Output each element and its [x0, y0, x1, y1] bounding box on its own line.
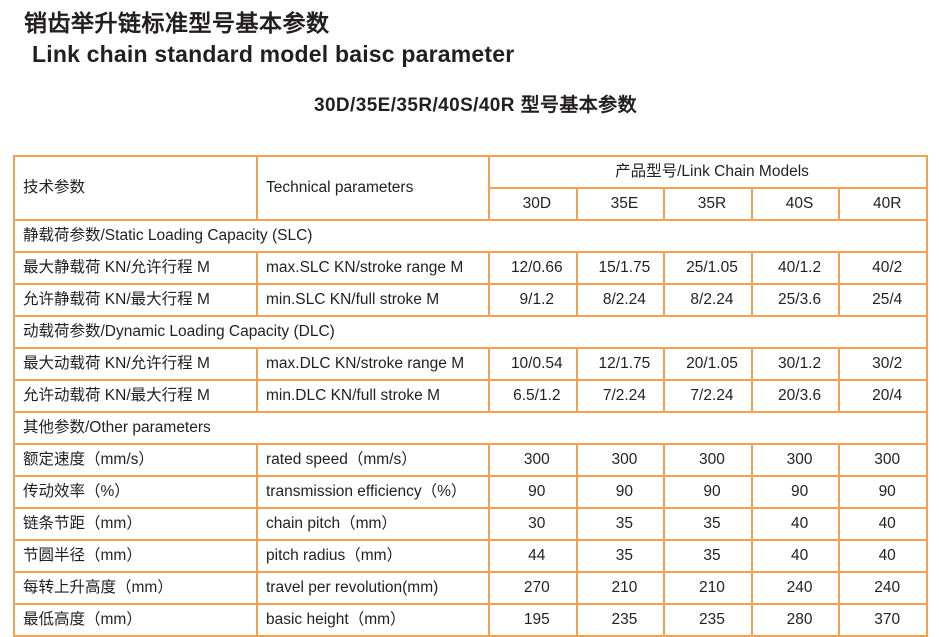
- column-header-model-40r: 40R: [840, 189, 926, 219]
- cell-value: 10/0.54: [490, 349, 576, 379]
- cell-value: 235: [665, 605, 751, 635]
- cell-value: 300: [490, 445, 576, 475]
- table-row: 每转上升高度（mm） travel per revolution(mm) 270…: [15, 573, 926, 603]
- cell-value: 30: [490, 509, 576, 539]
- cell-value: 210: [665, 573, 751, 603]
- section-row: 静载荷参数/Static Loading Capacity (SLC): [15, 221, 926, 251]
- row-label-en: min.SLC KN/full stroke M: [258, 285, 488, 315]
- row-label-cn: 允许静载荷 KN/最大行程 M: [15, 285, 256, 315]
- table-row: 传动效率（%） transmission efficiency（%） 90 90…: [15, 477, 926, 507]
- cell-value: 240: [753, 573, 839, 603]
- table-row: 最低高度（mm） basic height（mm） 195 235 235 28…: [15, 605, 926, 635]
- cell-value: 44: [490, 541, 576, 571]
- cell-value: 12/0.66: [490, 253, 576, 283]
- cell-value: 8/2.24: [665, 285, 751, 315]
- cell-value: 8/2.24: [578, 285, 664, 315]
- row-label-cn: 节圆半径（mm）: [15, 541, 256, 571]
- cell-value: 20/3.6: [753, 381, 839, 411]
- cell-value: 240: [840, 573, 926, 603]
- cell-value: 300: [840, 445, 926, 475]
- cell-value: 40: [840, 541, 926, 571]
- cell-value: 6.5/1.2: [490, 381, 576, 411]
- cell-value: 40: [753, 509, 839, 539]
- cell-value: 280: [753, 605, 839, 635]
- cell-value: 195: [490, 605, 576, 635]
- row-label-cn: 最大静载荷 KN/允许行程 M: [15, 253, 256, 283]
- cell-value: 20/4: [840, 381, 926, 411]
- page-title-en: Link chain standard model baisc paramete…: [24, 38, 939, 70]
- spec-table: 技术参数 Technical parameters 产品型号/Link Chai…: [13, 155, 928, 637]
- table-header-row-1: 技术参数 Technical parameters 产品型号/Link Chai…: [15, 157, 926, 187]
- cell-value: 300: [578, 445, 664, 475]
- cell-value: 35: [665, 541, 751, 571]
- cell-value: 35: [665, 509, 751, 539]
- section-label-slc: 静载荷参数/Static Loading Capacity (SLC): [15, 221, 926, 251]
- column-header-model-30d: 30D: [490, 189, 576, 219]
- column-header-models-group: 产品型号/Link Chain Models: [490, 157, 926, 187]
- cell-value: 300: [753, 445, 839, 475]
- cell-value: 30/1.2: [753, 349, 839, 379]
- cell-value: 15/1.75: [578, 253, 664, 283]
- column-header-model-40s: 40S: [753, 189, 839, 219]
- column-header-param-cn: 技术参数: [15, 157, 256, 219]
- cell-value: 40/2: [840, 253, 926, 283]
- cell-value: 9/1.2: [490, 285, 576, 315]
- cell-value: 235: [578, 605, 664, 635]
- cell-value: 25/3.6: [753, 285, 839, 315]
- column-header-model-35e: 35E: [578, 189, 664, 219]
- page-header: 销齿举升链标准型号基本参数 Link chain standard model …: [0, 0, 939, 117]
- row-label-en: basic height（mm）: [258, 605, 488, 635]
- section-row: 动载荷参数/Dynamic Loading Capacity (DLC): [15, 317, 926, 347]
- table-row: 最大静载荷 KN/允许行程 M max.SLC KN/stroke range …: [15, 253, 926, 283]
- cell-value: 90: [578, 477, 664, 507]
- row-label-en: pitch radius（mm）: [258, 541, 488, 571]
- cell-value: 90: [490, 477, 576, 507]
- row-label-en: chain pitch（mm）: [258, 509, 488, 539]
- column-header-param-en: Technical parameters: [258, 157, 488, 219]
- row-label-cn: 最低高度（mm）: [15, 605, 256, 635]
- row-label-cn: 允许动载荷 KN/最大行程 M: [15, 381, 256, 411]
- spec-table-body: 技术参数 Technical parameters 产品型号/Link Chai…: [15, 157, 926, 635]
- row-label-cn: 最大动载荷 KN/允许行程 M: [15, 349, 256, 379]
- cell-value: 300: [665, 445, 751, 475]
- row-label-cn: 额定速度（mm/s）: [15, 445, 256, 475]
- cell-value: 90: [665, 477, 751, 507]
- table-row: 允许静载荷 KN/最大行程 M min.SLC KN/full stroke M…: [15, 285, 926, 315]
- row-label-en: min.DLC KN/full stroke M: [258, 381, 488, 411]
- cell-value: 12/1.75: [578, 349, 664, 379]
- section-label-dlc: 动载荷参数/Dynamic Loading Capacity (DLC): [15, 317, 926, 347]
- cell-value: 90: [753, 477, 839, 507]
- cell-value: 7/2.24: [578, 381, 664, 411]
- cell-value: 210: [578, 573, 664, 603]
- table-row: 最大动载荷 KN/允许行程 M max.DLC KN/stroke range …: [15, 349, 926, 379]
- row-label-cn: 每转上升高度（mm）: [15, 573, 256, 603]
- table-row: 允许动载荷 KN/最大行程 M min.DLC KN/full stroke M…: [15, 381, 926, 411]
- cell-value: 270: [490, 573, 576, 603]
- table-row: 额定速度（mm/s） rated speed（mm/s） 300 300 300…: [15, 445, 926, 475]
- row-label-cn: 传动效率（%）: [15, 477, 256, 507]
- cell-value: 90: [840, 477, 926, 507]
- cell-value: 370: [840, 605, 926, 635]
- cell-value: 35: [578, 509, 664, 539]
- spec-table-container: 技术参数 Technical parameters 产品型号/Link Chai…: [13, 155, 928, 637]
- row-label-en: max.DLC KN/stroke range M: [258, 349, 488, 379]
- section-label-other: 其他参数/Other parameters: [15, 413, 926, 443]
- table-row: 节圆半径（mm） pitch radius（mm） 44 35 35 40 40: [15, 541, 926, 571]
- cell-value: 35: [578, 541, 664, 571]
- row-label-en: max.SLC KN/stroke range M: [258, 253, 488, 283]
- table-row: 链条节距（mm） chain pitch（mm） 30 35 35 40 40: [15, 509, 926, 539]
- cell-value: 40/1.2: [753, 253, 839, 283]
- page-subtitle: 30D/35E/35R/40S/40R 型号基本参数: [24, 90, 939, 117]
- row-label-en: travel per revolution(mm): [258, 573, 488, 603]
- row-label-en: transmission efficiency（%）: [258, 477, 488, 507]
- cell-value: 30/2: [840, 349, 926, 379]
- row-label-en: rated speed（mm/s）: [258, 445, 488, 475]
- cell-value: 25/4: [840, 285, 926, 315]
- cell-value: 25/1.05: [665, 253, 751, 283]
- cell-value: 40: [753, 541, 839, 571]
- page-title-cn: 销齿举升链标准型号基本参数: [24, 8, 939, 38]
- row-label-cn: 链条节距（mm）: [15, 509, 256, 539]
- cell-value: 7/2.24: [665, 381, 751, 411]
- column-header-model-35r: 35R: [665, 189, 751, 219]
- section-row: 其他参数/Other parameters: [15, 413, 926, 443]
- cell-value: 40: [840, 509, 926, 539]
- cell-value: 20/1.05: [665, 349, 751, 379]
